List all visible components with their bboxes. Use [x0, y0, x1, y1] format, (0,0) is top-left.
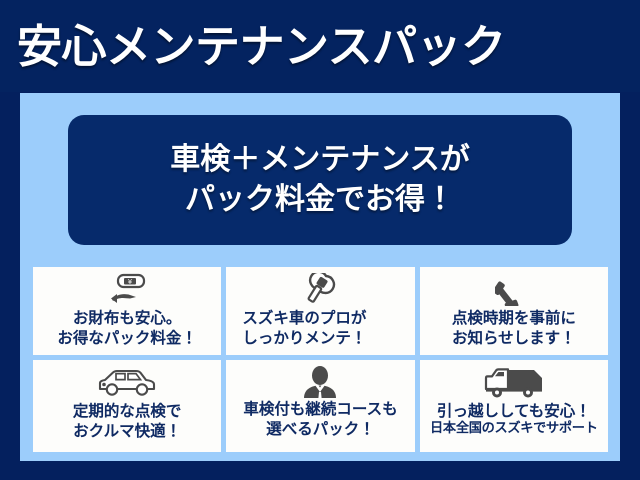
car-icon — [96, 365, 158, 401]
hero-banner: 車検＋メンテナンスが パック料金でお得！ — [68, 115, 572, 245]
feature-card-wallet-text: お財布も安心。 お得なパック料金！ — [57, 309, 197, 349]
feature-line-2: しっかりメンテ！ — [242, 329, 414, 349]
feature-card-inspection: 定期的な点検で おクルマ快適！ — [33, 360, 221, 452]
telephone-icon — [495, 272, 533, 308]
feature-card-course-choice-text: 車検付も継続コースも 選べるパック！ — [243, 400, 397, 440]
feature-card-inspection-text: 定期的な点検で おクルマ快適！ — [73, 402, 182, 442]
feature-card-professional: スズキ車のプロが しっかりメンテ！ — [226, 267, 414, 355]
feature-card-nationwide-support: 引っ越ししても安心！ 日本全国のスズキでサポート — [420, 360, 608, 452]
feature-line-1: お財布も安心。 — [57, 309, 197, 329]
money-in-hand-icon: ¥ — [106, 272, 148, 308]
content-panel: 車検＋メンテナンスが パック料金でお得！ ¥ お財布も安心。 — [20, 93, 620, 461]
feature-line-2: 日本全国のスズキでサポート — [430, 421, 598, 437]
feature-card-professional-text: スズキ車のプロが しっかりメンテ！ — [226, 309, 414, 349]
advertisement-root: 安心メンテナンスパック 車検＋メンテナンスが パック料金でお得！ ¥ — [0, 0, 640, 480]
feature-line-1: 車検付も継続コースも — [243, 400, 397, 420]
svg-text:¥: ¥ — [128, 278, 133, 286]
feature-card-course-choice: 車検付も継続コースも 選べるパック！ — [226, 360, 414, 452]
moving-truck-icon — [484, 365, 544, 401]
hero-line-1: 車検＋メンテナンスが — [170, 140, 469, 180]
wrench-icon — [300, 272, 340, 308]
feature-card-reminder-text: 点検時期を事前に お知らせします！ — [452, 309, 576, 349]
feature-line-1: 定期的な点検で — [73, 402, 182, 422]
feature-line-2: おクルマ快適！ — [73, 422, 182, 442]
page-title: 安心メンテナンスパック — [17, 24, 506, 69]
header-band: 安心メンテナンスパック — [0, 0, 640, 92]
feature-grid: ¥ お財布も安心。 お得なパック料金！ — [33, 267, 608, 452]
hero-line-2: パック料金でお得！ — [185, 180, 455, 220]
feature-card-wallet: ¥ お財布も安心。 お得なパック料金！ — [33, 267, 221, 355]
feature-card-reminder: 点検時期を事前に お知らせします！ — [420, 267, 608, 355]
feature-line-1: スズキ車のプロが — [242, 309, 414, 329]
feature-line-2: お得なパック料金！ — [57, 329, 197, 349]
businessperson-icon — [300, 365, 340, 399]
feature-line-2: お知らせします！ — [452, 329, 576, 349]
feature-card-nationwide-support-text: 引っ越ししても安心！ 日本全国のスズキでサポート — [430, 402, 598, 437]
feature-line-2: 選べるパック！ — [243, 420, 397, 440]
feature-line-1: 引っ越ししても安心！ — [430, 402, 598, 421]
feature-line-1: 点検時期を事前に — [452, 309, 576, 329]
